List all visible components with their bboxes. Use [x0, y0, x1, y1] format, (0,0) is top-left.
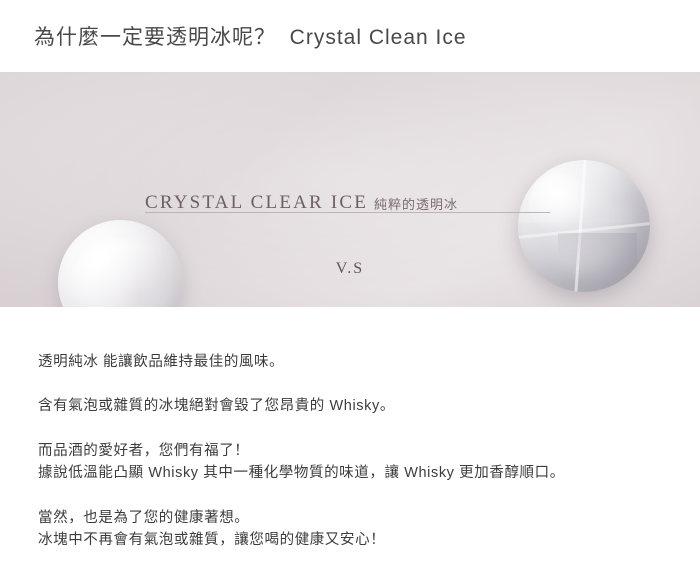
page-root: 為什麼一定要透明冰呢？ Crystal Clean Ice CRYSTAL CL… [0, 0, 700, 580]
crystal-clear-ice-sublabel: 純粹的透明冰 [374, 194, 458, 213]
body-copy: 透明純冰 能讓飲品維持最佳的風味。 含有氣泡或雜質的冰塊絕對會毀了您昂貴的 Wh… [0, 307, 700, 552]
paragraph: 含有氣泡或雜質的冰塊絕對會毀了您昂貴的 Whisky。 [38, 395, 700, 417]
hero-banner: CRYSTAL CLEAR ICE 純粹的透明冰 V.S 普通的白冰 REGUL… [0, 72, 700, 307]
page-title: 為什麼一定要透明冰呢？ Crystal Clean Ice [34, 21, 467, 51]
ice-facet-specular [529, 173, 590, 234]
paragraph: 透明純冰 能讓飲品維持最佳的風味。 [38, 351, 700, 373]
versus-label: V.S [0, 260, 700, 278]
page-header: 為什麼一定要透明冰呢？ Crystal Clean Ice [0, 0, 700, 72]
paragraph: 而品酒的愛好者，您們有福了！ 據說低溫能凸顯 Whisky 其中一種化學物質的味… [38, 440, 700, 485]
paragraph: 當然，也是為了您的健康著想。 冰塊中不再會有氣泡或雜質，讓您喝的健康又安心！ [38, 507, 700, 552]
crystal-clear-ice-label: CRYSTAL CLEAR ICE [145, 192, 368, 214]
